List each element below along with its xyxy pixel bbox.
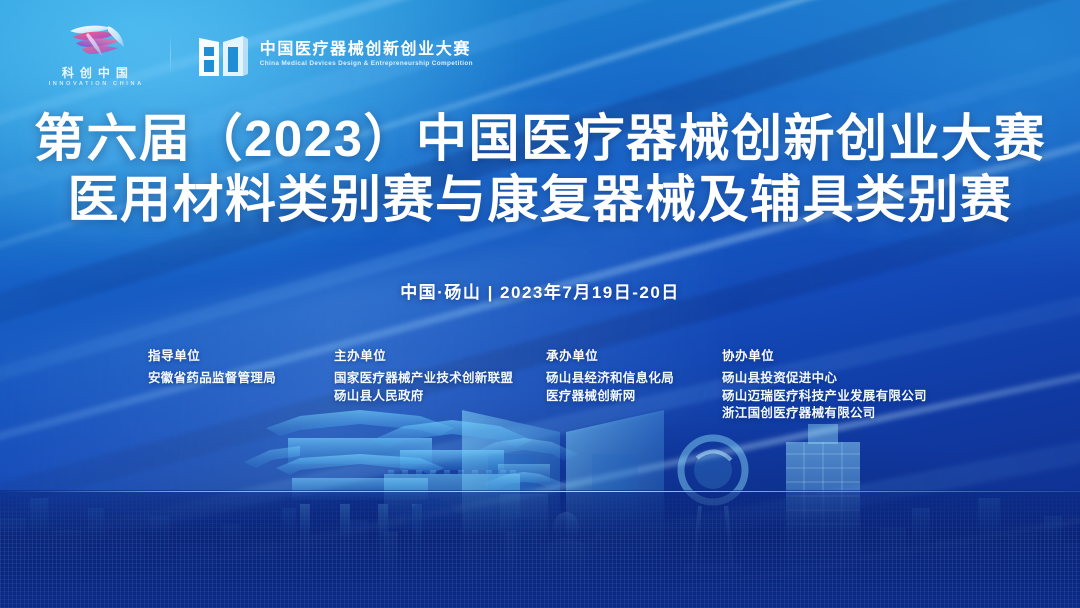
sponsor-column-coorganizer: 协办单位 砀山县投资促进中心 砀山迈瑞医疗科技产业发展有限公司 浙江国创医疗器械… (722, 345, 988, 423)
competition-name-en: China Medical Devices Design & Entrepren… (260, 61, 473, 67)
sponsor-item: 医疗器械创新网 (546, 388, 722, 406)
sponsor-item: 砀山县人民政府 (334, 388, 546, 406)
horizon-line (0, 491, 1080, 493)
large-gate-logo-monument (462, 410, 664, 584)
sponsor-column-organizer: 承办单位 砀山县经济和信息化局 医疗器械创新网 (546, 345, 722, 423)
statue-monument (530, 512, 603, 600)
modern-skyscraper (786, 424, 860, 600)
innovation-china-logo: 科创中国 INNOVATION CHINA (46, 22, 144, 88)
open-door-gate-logo-icon (197, 32, 249, 78)
logo-divider (170, 35, 171, 75)
sponsor-column-guidance: 指导单位 安徽省药品监督管理局 (148, 345, 334, 423)
sponsor-columns: 指导单位 安徽省药品监督管理局 主办单位 国家医疗器械产业技术创新联盟 砀山县人… (148, 345, 988, 423)
sponsor-item: 砀山迈瑞医疗科技产业发展有限公司 (722, 388, 988, 406)
poster-title: 第六届（2023）中国医疗器械创新创业大赛 医用材料类别赛与康复器械及辅具类别赛 (0, 108, 1080, 230)
competition-logo-text: 中国医疗器械创新创业大赛 China Medical Devices Desig… (260, 42, 473, 67)
innovation-china-cn: 科创中国 (56, 67, 134, 79)
background-light-rays (0, 0, 1080, 608)
sponsor-item: 砀山县经济和信息化局 (546, 370, 722, 388)
sponsor-item: 国家医疗器械产业技术创新联盟 (334, 370, 546, 388)
ground-plane (0, 490, 1080, 608)
sponsor-item: 砀山县投资促进中心 (722, 370, 988, 388)
header-logo-bar: 科创中国 INNOVATION CHINA 中国医疗器械创新创业大赛 China… (46, 22, 473, 88)
competition-name-cn: 中国医疗器械创新创业大赛 (260, 42, 473, 58)
circular-sculpture-body (681, 438, 745, 572)
sponsor-item: 安徽省药品监督管理局 (148, 370, 334, 388)
sponsor-heading: 承办单位 (546, 345, 722, 364)
sponsor-column-host: 主办单位 国家医疗器械产业技术创新联盟 砀山县人民政府 (334, 345, 546, 423)
sponsor-heading: 指导单位 (148, 345, 334, 364)
phoenix-bird-emblem-icon (64, 22, 126, 64)
pagoda (470, 438, 578, 600)
chinese-paifang-archway (244, 410, 454, 600)
distant-city-skyline-right (880, 498, 1080, 594)
competition-logo: 中国医疗器械创新创业大赛 China Medical Devices Desig… (197, 32, 473, 78)
sponsor-heading: 协办单位 (722, 345, 988, 364)
event-location-date: 中国·砀山 | 2023年7月19日-20日 (0, 278, 1080, 303)
title-line-2: 医用材料类别赛与康复器械及辅具类别赛 (0, 169, 1080, 230)
title-line-1: 第六届（2023）中国医疗器械创新创业大赛 (0, 108, 1080, 169)
innovation-china-en: INNOVATION CHINA (46, 82, 144, 88)
city-gate-tower (372, 420, 532, 600)
sponsor-item: 浙江国创医疗器械有限公司 (722, 405, 988, 423)
ground-mesh-texture (0, 490, 1080, 608)
sponsor-heading: 主办单位 (334, 345, 546, 364)
event-poster: 科创中国 INNOVATION CHINA 中国医疗器械创新创业大赛 China… (0, 0, 1080, 608)
distant-city-skyline (0, 498, 368, 594)
